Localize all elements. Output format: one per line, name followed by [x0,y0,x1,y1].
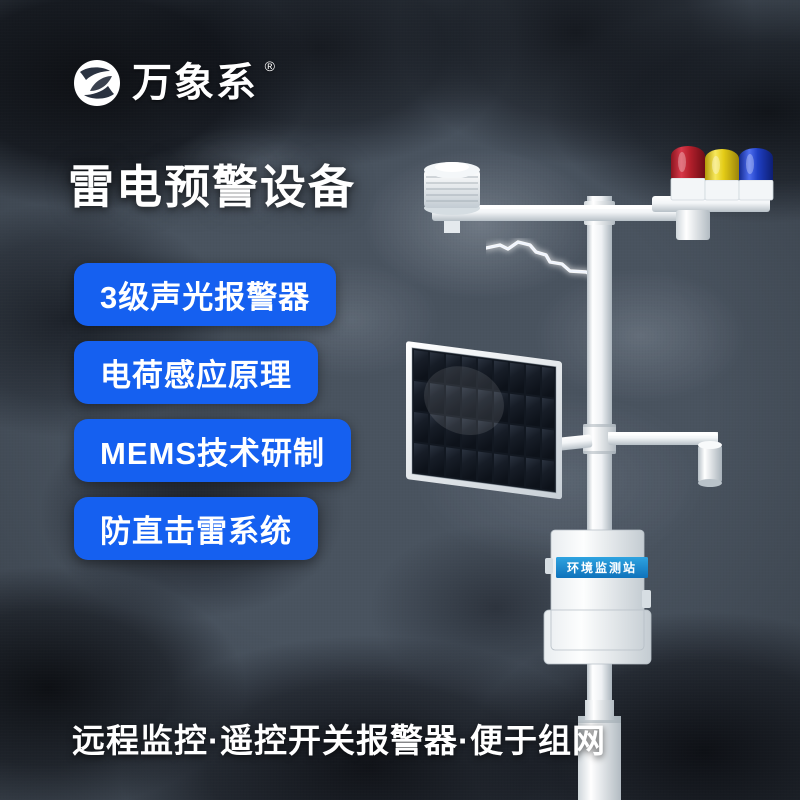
feature-list: 3级声光报警器 电荷感应原理 MEMS技术研制 防直击雷系统 [74,263,351,560]
product-name-label-text: 环境监测站 [567,562,637,574]
page-title: 雷电预警设备 [68,163,356,213]
feature-pill-4[interactable]: 防直击雷系统 [74,497,318,560]
brand-name: 万象系 ® [132,63,258,103]
product-poster: 环境监测站 万象系 ® 雷电预警设备 3级声光报警器 电荷感应原理 MEMS技术… [0,0,800,800]
feature-pill-2[interactable]: 电荷感应原理 [74,341,318,404]
brand-logo[interactable]: 万象系 ® [72,58,258,108]
brand-name-text: 万象系 [132,61,258,105]
footer-tagline: 远程监控·遥控开关报警器·便于组网 [72,714,606,762]
product-name-label: 环境监测站 [556,557,648,578]
feature-pill-1[interactable]: 3级声光报警器 [74,263,336,326]
registered-trademark-mark: ® [265,59,275,73]
feature-pill-3[interactable]: MEMS技术研制 [74,419,351,482]
swirl-logo-icon [72,58,122,108]
